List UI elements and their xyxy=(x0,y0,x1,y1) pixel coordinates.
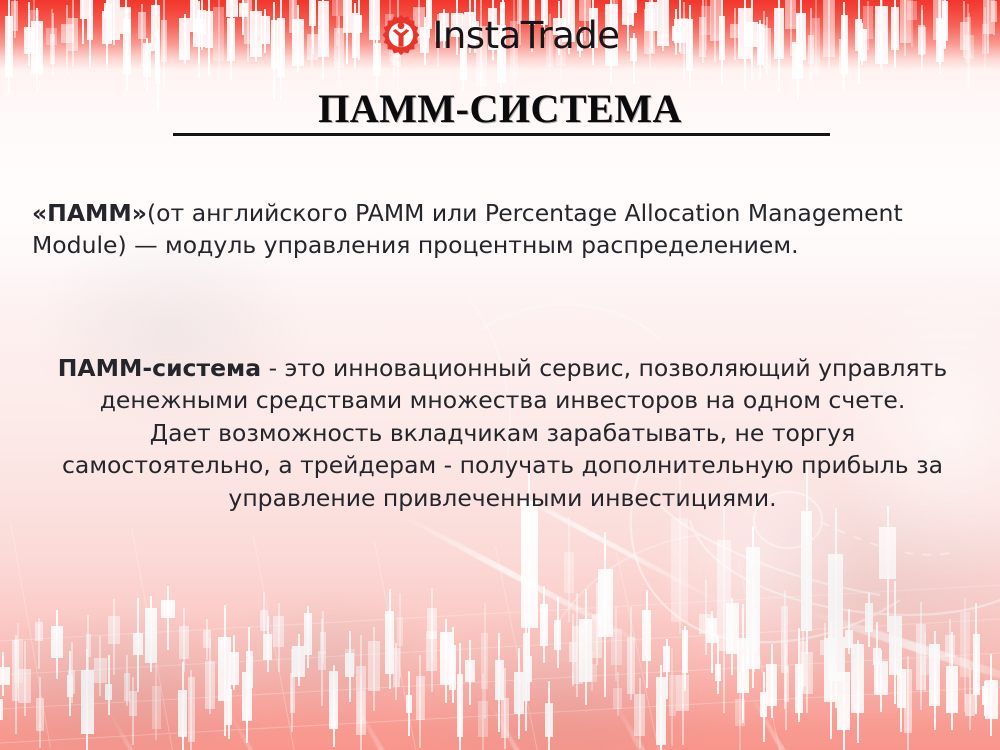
gear-person-icon xyxy=(380,14,422,56)
background-candlesticks-bottom xyxy=(0,560,1000,750)
presentation-slide: InstaTrade ПАММ-СИСТЕМА «ПАММ»(от англий… xyxy=(0,0,1000,750)
description-line-3: Дает возможность вкладчикам зарабатывать… xyxy=(20,417,985,449)
description-line-5: управление привлеченными инвестициями. xyxy=(20,482,985,514)
brand-name: InstaTrade xyxy=(432,17,619,54)
title-divider xyxy=(173,133,830,136)
brand-logo: InstaTrade xyxy=(0,12,1000,58)
description-paragraph: ПАММ-система - это инновационный сервис,… xyxy=(20,352,985,514)
page-title: ПАММ-СИСТЕМА xyxy=(0,88,1000,130)
description-line-2: денежными средствами множества инвесторо… xyxy=(20,384,985,416)
description-term: ПАММ-система xyxy=(58,354,261,382)
description-line-1: ПАММ-система - это инновационный сервис,… xyxy=(20,352,985,384)
description-line-1-rest: - это инновационный сервис, позволяющий … xyxy=(261,354,947,382)
definition-paragraph: «ПАММ»(от английского PAMM или Percentag… xyxy=(32,198,972,262)
description-line-4: самостоятельно, а трейдерам - получать д… xyxy=(20,449,985,481)
definition-body: (от английского PAMM или Percentage Allo… xyxy=(32,199,903,259)
definition-term: «ПАММ» xyxy=(32,199,147,227)
